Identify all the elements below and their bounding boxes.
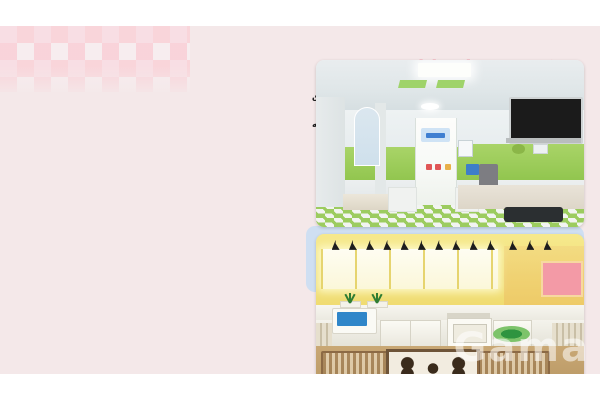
clinic-kitchen-photo — [316, 60, 584, 227]
slide-background: کف و دیوار قابل شستشو کف از سرامیک یا pv… — [0, 26, 600, 374]
hanging-lamp-icon — [332, 240, 340, 250]
window-mullions — [321, 249, 498, 289]
hanging-lamp-icon — [509, 240, 517, 250]
left-pillar — [316, 97, 345, 207]
grey-appliance — [479, 164, 498, 186]
wall-switch — [533, 144, 548, 154]
arched-window — [354, 107, 380, 166]
patterned-rug-left — [321, 351, 389, 374]
clinic-kitchen-photo-content — [316, 60, 584, 227]
hanging-lamp-icon — [383, 240, 391, 250]
potted-plant — [340, 296, 359, 308]
hanging-lamp-icon — [401, 240, 409, 250]
pink-window — [541, 261, 583, 298]
potted-plant — [367, 296, 386, 308]
hanging-lamp-icon — [418, 240, 426, 250]
wall-marker-3 — [445, 164, 451, 171]
hanging-lamp-icon — [452, 240, 460, 250]
wall-marker-1 — [426, 164, 432, 171]
watermark: Gama — [454, 328, 591, 368]
wall-notice — [458, 140, 473, 157]
slide-canvas: کف و دیوار قابل شستشو کف از سرامیک یا pv… — [0, 0, 600, 400]
hanging-lamp-icon — [526, 240, 534, 250]
sink — [504, 207, 563, 222]
left-bench — [343, 194, 391, 211]
wall-tv — [509, 97, 583, 144]
checkerboard-fade — [0, 66, 200, 106]
wall-clock — [512, 144, 525, 154]
hanging-lamp-icon — [435, 240, 443, 250]
hanging-lamp-icon — [366, 240, 374, 250]
cabinet-left — [388, 187, 417, 212]
ceiling-vent-left — [398, 80, 427, 88]
skylight — [418, 63, 472, 76]
hanging-lamps-row — [327, 240, 574, 255]
blue-appliance — [466, 164, 479, 176]
hanging-lamp-icon — [487, 240, 495, 250]
hanging-lamp-icon — [470, 240, 478, 250]
door-wall-picture-detail — [426, 133, 445, 138]
hanging-lamp-icon — [349, 240, 357, 250]
counter-top — [458, 185, 584, 208]
toy-microwave-window — [337, 312, 366, 327]
wall-marker-2 — [435, 164, 441, 171]
hanging-lamp-icon — [544, 240, 552, 250]
ceiling-vent-right — [436, 80, 465, 88]
tv-bracket — [506, 138, 581, 142]
